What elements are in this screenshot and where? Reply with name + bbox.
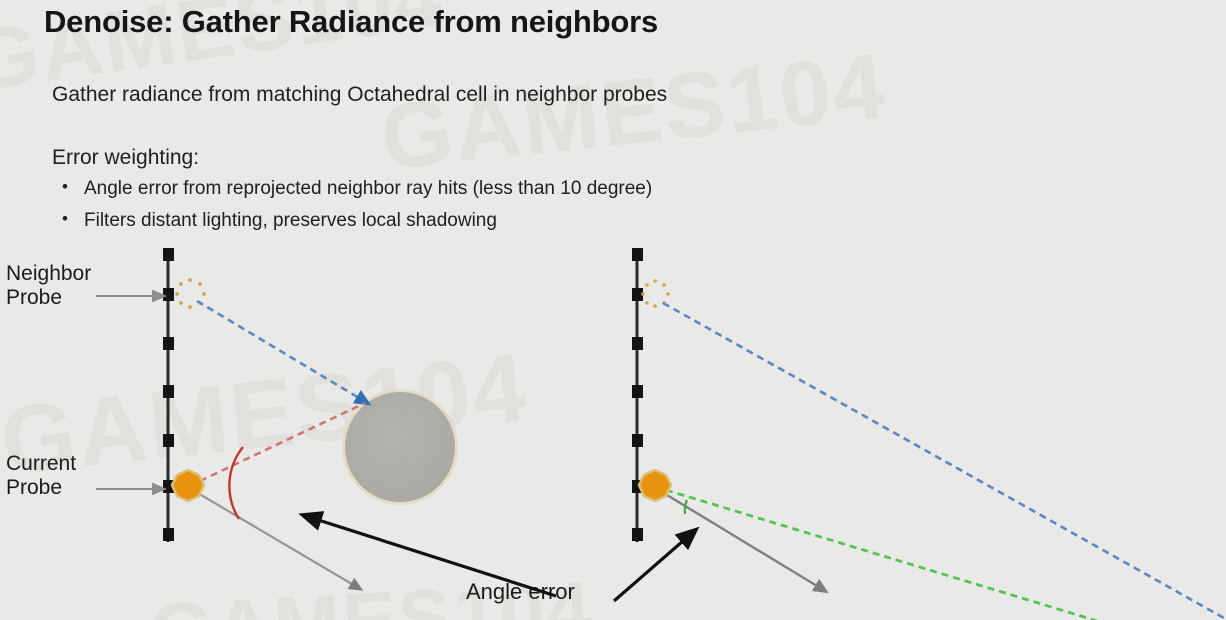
wall-tick [632, 434, 643, 447]
wall-tick [163, 528, 174, 541]
angle-error-arc [229, 447, 243, 519]
angle-error-leader-right [614, 534, 691, 601]
current-probe-marker [172, 470, 204, 501]
neighbor-blue-ray [197, 301, 364, 401]
neighbor-blue-ray [663, 303, 1226, 620]
wall-tick [163, 288, 174, 301]
slide-canvas: GAMES104 GAMES104 GAMES104 GAMES104 Deno… [0, 0, 1226, 620]
current-green-ray [666, 490, 1160, 620]
current-gray-ray [196, 492, 357, 587]
angle-error-leader-left [309, 517, 556, 596]
current-probe-marker [639, 470, 671, 501]
right-diagram [632, 248, 1226, 620]
wall-tick [632, 385, 643, 398]
wall-tick [163, 337, 174, 350]
wall-tick [632, 337, 643, 350]
current-red-ray [200, 403, 365, 481]
wall-tick [163, 248, 174, 261]
wall-tick [632, 528, 643, 541]
wall-tick [163, 434, 174, 447]
wall-tick [163, 385, 174, 398]
diagram-artwork [0, 0, 1226, 620]
wall-tick [632, 248, 643, 261]
occluder-sphere [345, 392, 455, 502]
left-diagram [163, 248, 458, 587]
